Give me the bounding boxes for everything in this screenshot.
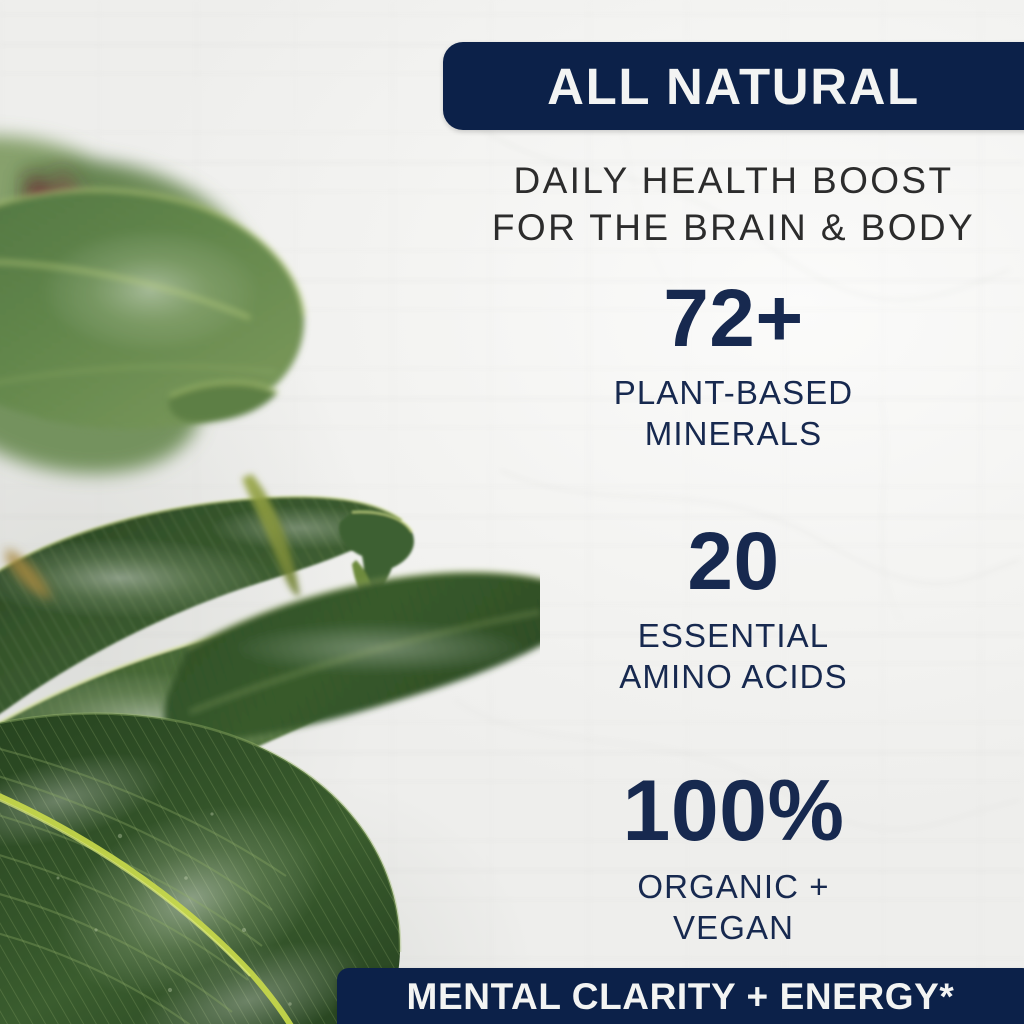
stat-item-essential-amino-acids: 20 ESSENTIAL AMINO ACIDS [443,521,1024,697]
stat-item-plant-based-minerals: 72+ PLANT-BASED MINERALS [443,278,1024,454]
product-infographic: ALL NATURAL DAILY HEALTH BOOST FOR THE B… [0,0,1024,1024]
stat-label: ORGANIC + VEGAN [443,867,1024,948]
subtitle: DAILY HEALTH BOOST FOR THE BRAIN & BODY [443,158,1024,252]
stats-list: 72+ PLANT-BASED MINERALS 20 ESSENTIAL AM… [443,278,1024,950]
mental-clarity-banner-text: MENTAL CLARITY + ENERGY* [407,978,955,1015]
all-natural-banner: ALL NATURAL [443,42,1024,130]
stat-value: 100% [443,768,1024,854]
stat-label: PLANT-BASED MINERALS [443,373,1024,454]
all-natural-banner-text: ALL NATURAL [547,61,920,112]
stat-label: ESSENTIAL AMINO ACIDS [443,616,1024,697]
stat-item-organic-vegan: 100% ORGANIC + VEGAN [443,768,1024,948]
stat-value: 72+ [443,278,1024,360]
mental-clarity-banner: MENTAL CLARITY + ENERGY* [337,968,1024,1024]
stat-value: 20 [443,521,1024,603]
